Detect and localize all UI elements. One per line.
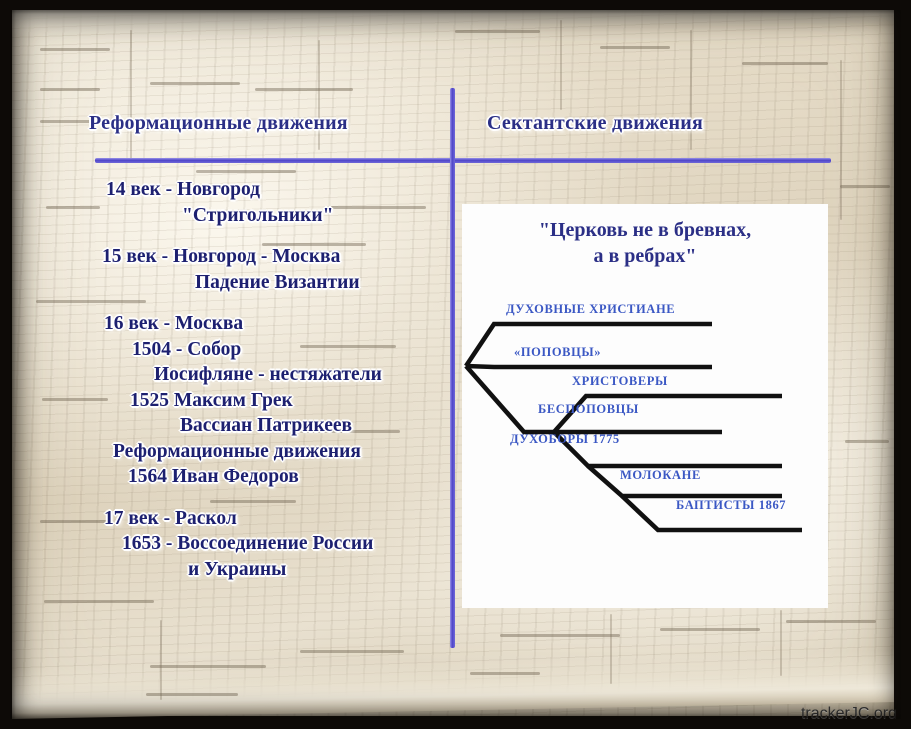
diagram-label: ХРИСТОВЕРЫ [572,374,668,389]
diagram-label: «ПОПОВЦЫ» [514,345,601,360]
timeline-spacer [60,493,450,509]
timeline-line: Реформационные движения [113,442,450,462]
timeline-line: 14 век - Новгород [106,180,450,200]
vignette-bottom [0,713,911,729]
vignette-left [0,0,16,729]
vignette-right [893,0,911,729]
column-divider-vertical [450,88,455,648]
timeline-line: Падение Византии [195,273,450,293]
left-column-header: Реформационные движения [89,112,348,135]
timeline-line: 17 век - Раскол [104,509,450,529]
timeline-line: и Украины [188,560,450,580]
slide-canvas: Реформационные движения Сектантские движ… [0,0,911,729]
diagram-label: БАПТИСТЫ 1867 [676,498,786,513]
timeline-line: 16 век - Москва [104,314,450,334]
timeline-line: 1504 - Собор [132,340,450,360]
vignette-top [0,0,911,14]
timeline-line: 1653 - Воссоединение России [122,534,450,554]
timeline-spacer [60,298,450,314]
timeline-line: Иосифляне - нестяжатели [154,365,450,385]
diagram-label: ДУХОВНЫЕ ХРИСТИАНЕ [506,302,675,317]
sect-diagram-panel: "Церковь не в бревнах, а в ребрах" ДУХОВ… [462,204,828,608]
reform-timeline-list: 14 век - Новгород"Стригольники"15 век - … [60,180,450,585]
right-column-header: Сектантские движения [487,112,703,135]
timeline-line: 1525 Максим Грек [130,391,450,411]
diagram-label: МОЛОКАНЕ [620,468,701,483]
diagram-label: БЕСПОПОВЦЫ [538,402,639,417]
timeline-line: 1564 Иван Федоров [128,467,450,487]
sect-branching-diagram [462,204,828,608]
header-divider-horizontal [95,158,831,163]
timeline-line: 15 век - Новгород - Москва [102,247,450,267]
diagram-label: ДУХОБОРЫ 1775 [510,432,620,447]
timeline-spacer [60,231,450,247]
timeline-line: "Стригольники" [182,206,450,226]
timeline-line: Вассиан Патрикеев [180,416,450,436]
